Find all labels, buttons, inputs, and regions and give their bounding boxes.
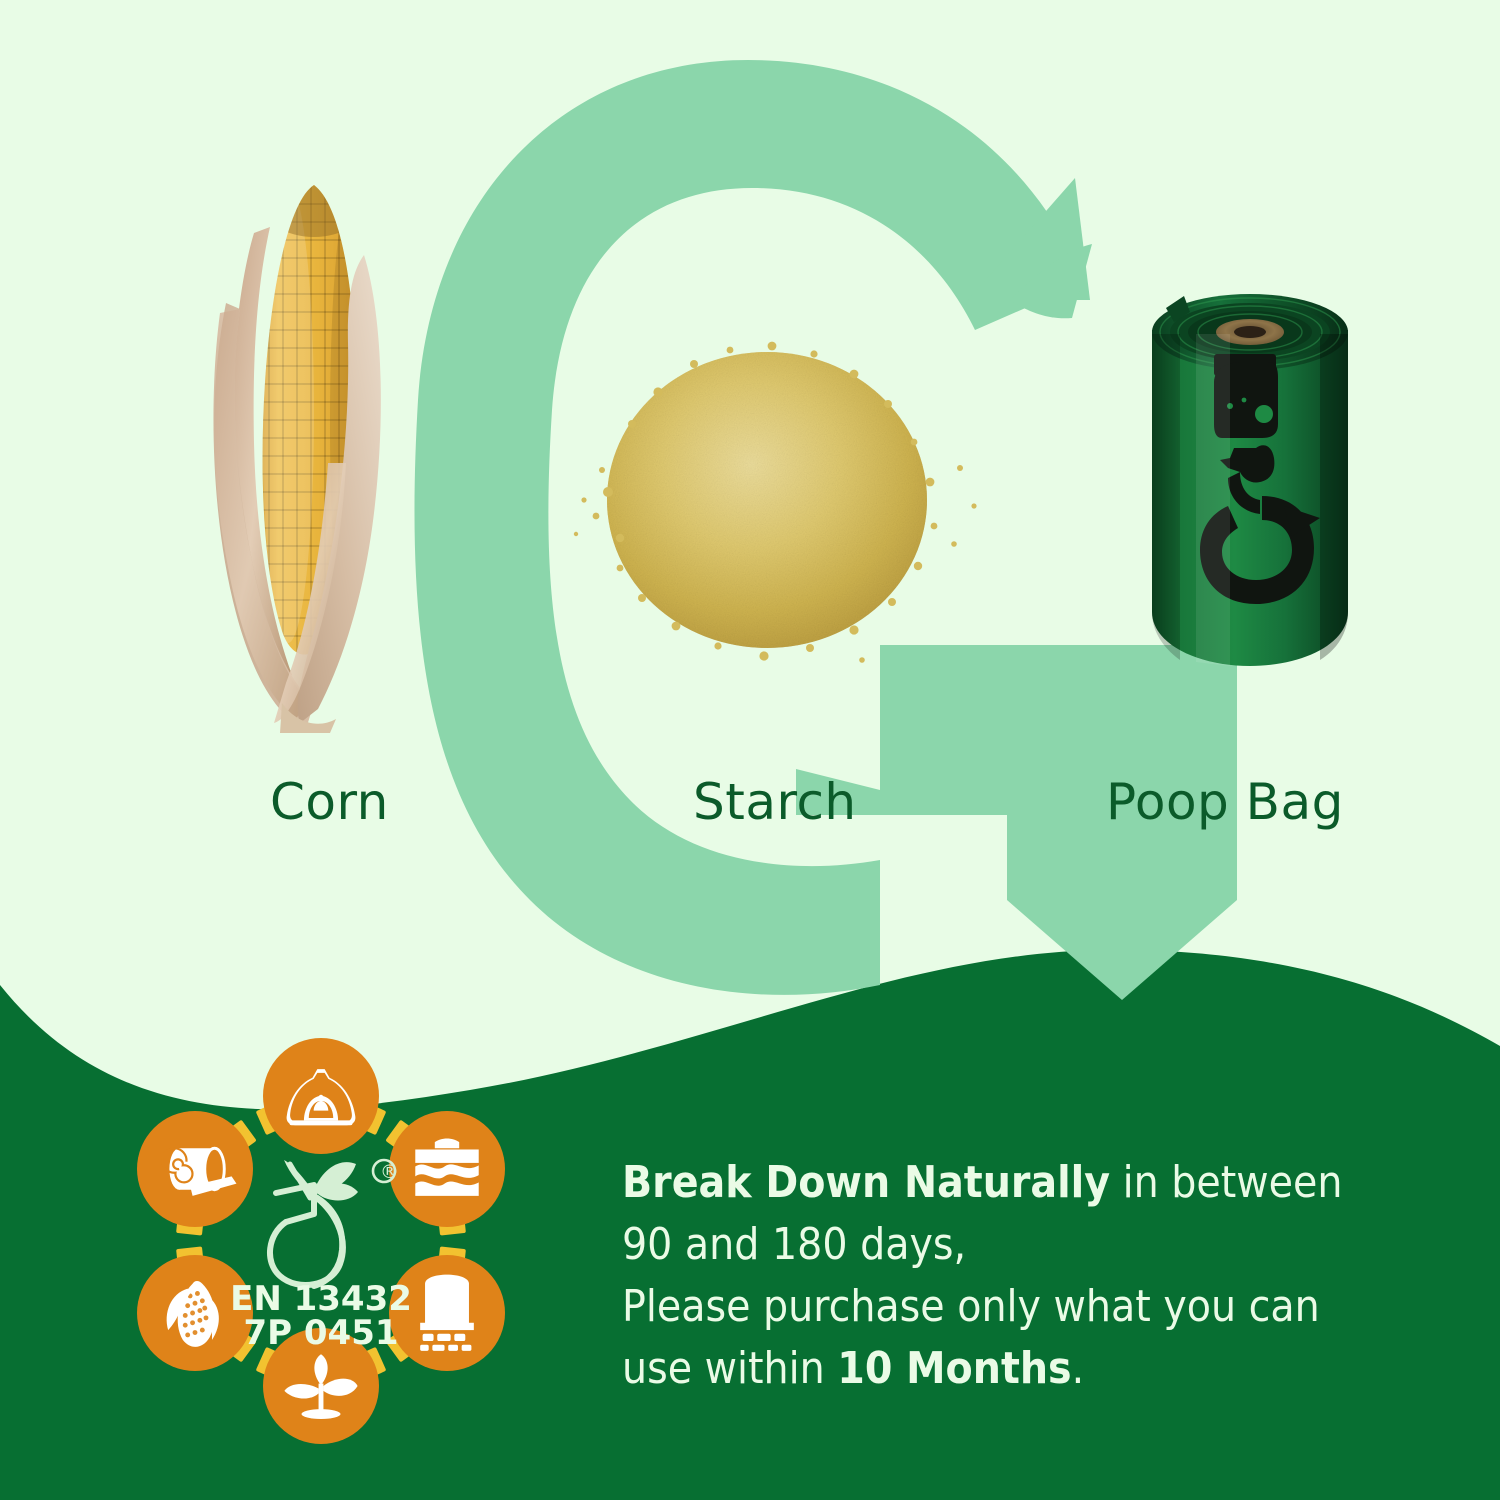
cert-icon-soil-layers [389, 1111, 505, 1227]
promo-line-1-bold: Break Down Naturally [622, 1157, 1110, 1208]
seedling-compostable-logo [270, 1185, 343, 1286]
starch-powder-image [562, 330, 992, 670]
cert-icon-film-roll [137, 1111, 253, 1227]
promo-line-4-post: . [1072, 1343, 1085, 1394]
cycle-arrow-down [1007, 815, 1237, 1000]
promo-line-4: use within 10 Months. [622, 1338, 1412, 1400]
cert-standard-line2: 7P 0451 [243, 1313, 398, 1353]
starch-pile [574, 342, 977, 663]
poop-bag-roll-image [1144, 282, 1356, 674]
infographic-canvas: Corn Starch Poop Bag [0, 0, 1500, 1500]
promo-line-3: Please purchase only what you can [622, 1276, 1412, 1338]
corn-cob-image [196, 163, 426, 733]
step-label-corn: Corn [270, 773, 389, 831]
promo-text-block: Break Down Naturally in between 90 and 1… [622, 1152, 1412, 1400]
promo-line-2: 90 and 180 days, [622, 1214, 1412, 1276]
cert-icon-waste-bag [263, 1038, 379, 1154]
promo-line-1-rest: in between [1110, 1157, 1342, 1208]
step-label-starch: Starch [693, 773, 857, 831]
step-label-poop-bag: Poop Bag [1106, 773, 1344, 831]
promo-line-4-bold: 10 Months [837, 1343, 1071, 1394]
promo-line-1: Break Down Naturally in between [622, 1152, 1412, 1214]
seedling-leaves [284, 1160, 358, 1201]
certification-badge: ® EN 13432 7P 0451 [118, 1038, 524, 1444]
promo-line-4-pre: use within [622, 1343, 837, 1394]
